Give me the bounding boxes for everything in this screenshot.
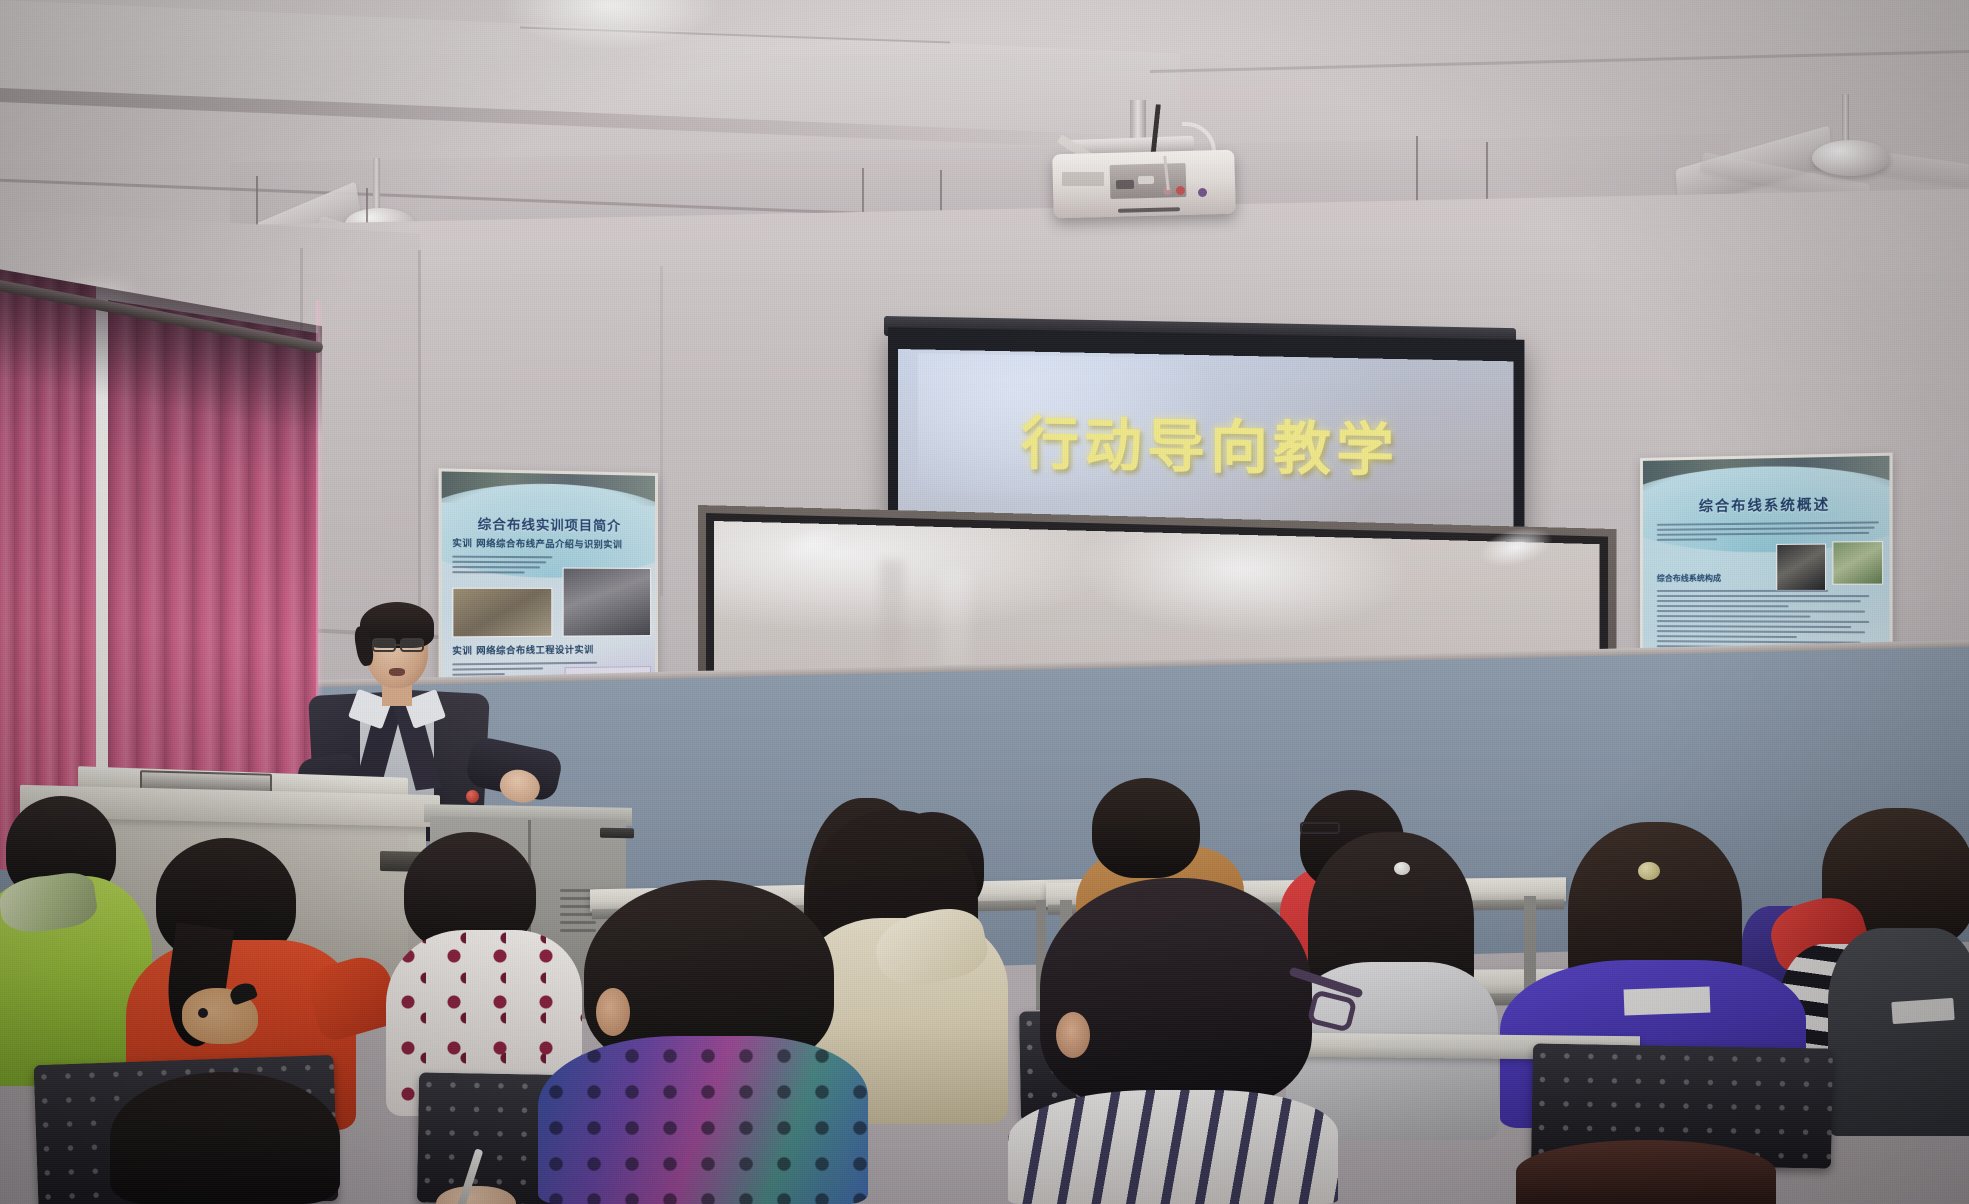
presenter-lapel-badge	[466, 790, 479, 803]
attendee-hair	[1040, 878, 1312, 1108]
projector-connector	[1138, 176, 1154, 184]
classroom-photo: 行动导向教学 山东华宇工学院基础部 雷海峰 2016年04月 综合布线实训项目简…	[0, 0, 1969, 1204]
projector-jack	[1198, 188, 1207, 197]
poster-right-subsection: 综合布线系统构成	[1657, 572, 1862, 584]
eyeglasses-icon	[400, 638, 424, 652]
attendee-hair	[1516, 1140, 1776, 1204]
projector-label	[1062, 172, 1104, 186]
attendee-head	[110, 1072, 340, 1204]
sweater-cartoon-graphic	[198, 1008, 208, 1018]
presenter-mouth	[389, 668, 405, 676]
eyeglasses-icon	[1300, 822, 1340, 834]
slide-title: 行动导向教学	[960, 395, 1460, 489]
eyeglasses-icon	[372, 638, 396, 652]
attendee-body	[538, 1036, 868, 1204]
attendee-body	[1828, 928, 1969, 1136]
attendee-ear	[596, 988, 630, 1036]
projector-video-jack	[1176, 186, 1185, 195]
chair-label-tag	[1891, 998, 1954, 1024]
poster-photo	[563, 568, 651, 637]
attendee-ear	[1056, 1012, 1090, 1058]
ceiling-fan-motor	[1812, 140, 1890, 176]
wall-seam	[418, 250, 421, 650]
poster-photo	[1776, 544, 1826, 591]
projector-vga-port	[1116, 180, 1134, 189]
cabinet-latch	[600, 828, 634, 839]
paper-on-desk	[1624, 987, 1711, 1016]
poster-left-title: 综合布线实训项目简介	[442, 513, 655, 535]
hair-clip	[1394, 862, 1410, 875]
poster-right-title: 综合布线系统概述	[1643, 493, 1890, 517]
attendee-head	[1092, 778, 1200, 878]
poster-body-text-block	[452, 552, 552, 576]
eyeglasses-bridge	[396, 644, 402, 646]
wall-seam	[660, 266, 663, 596]
poster-left-section-2: 实训 网络综合布线工程设计实训	[452, 642, 647, 657]
poster-body-text-block	[1657, 518, 1879, 544]
attendee-body	[1008, 1090, 1338, 1204]
hair-clip	[1638, 862, 1660, 880]
poster-left-section-1: 实训 网络综合布线产品介绍与识别实训	[452, 536, 647, 551]
poster-photo	[452, 588, 552, 638]
